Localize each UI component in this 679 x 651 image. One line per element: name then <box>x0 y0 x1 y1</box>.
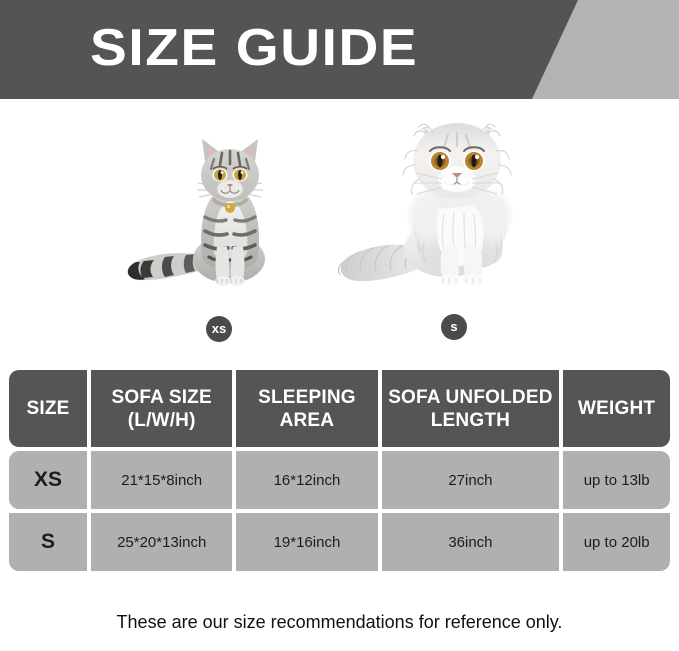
size-table: SIZE SOFA SIZE (L/W/H) SLEEPING AREA SOF… <box>9 370 670 575</box>
white-persian-cat-icon <box>330 99 580 311</box>
cell-sofa-unfolded-length: 36inch <box>382 513 560 571</box>
cell-size: S <box>9 513 87 571</box>
page-title: SIZE GUIDE <box>90 18 418 78</box>
header-label-unfolded-line1: SOFA UNFOLDED <box>388 387 552 408</box>
size-badge-s: s <box>441 314 467 340</box>
cell-sleeping-area: 16*12inch <box>236 451 377 509</box>
header-cell-weight: WEIGHT <box>563 370 670 447</box>
pet-illustrations-area: xs <box>0 99 679 361</box>
header-label-size: SIZE <box>27 397 70 420</box>
cell-sleeping-area: 19*16inch <box>236 513 377 571</box>
table-row: S 25*20*13inch 19*16inch 36inch up to 20… <box>9 513 670 571</box>
silver-tabby-cat-icon <box>110 107 330 312</box>
header-cell-sleeping-area: SLEEPING AREA <box>236 370 377 447</box>
header-cell-sofa-unfolded-length: SOFA UNFOLDED LENGTH <box>382 370 560 447</box>
header-label-sleeping-line2: AREA <box>280 410 335 431</box>
cell-weight: up to 20lb <box>563 513 670 571</box>
pet-figure-s: s <box>330 99 580 311</box>
header-label-sofa-size-line1: SOFA SIZE <box>112 387 212 408</box>
size-badge-xs: xs <box>206 316 232 342</box>
table-header-row: SIZE SOFA SIZE (L/W/H) SLEEPING AREA SOF… <box>9 370 670 447</box>
pet-figure-xs: xs <box>110 107 330 312</box>
table-row: XS 21*15*8inch 16*12inch 27inch up to 13… <box>9 451 670 509</box>
cell-weight: up to 13lb <box>563 451 670 509</box>
footer-note: These are our size recommendations for r… <box>0 612 679 633</box>
cell-sofa-size: 25*20*13inch <box>91 513 232 571</box>
header-cell-size: SIZE <box>9 370 87 447</box>
cell-sofa-size: 21*15*8inch <box>91 451 232 509</box>
header-cell-sofa-size: SOFA SIZE (L/W/H) <box>91 370 232 447</box>
header-label-sleeping-line1: SLEEPING <box>258 387 356 408</box>
size-badge-s-wrapper: s <box>441 314 467 340</box>
cell-size: XS <box>9 451 87 509</box>
size-badge-xs-wrapper: xs <box>206 316 232 342</box>
header-label-sofa-size-line2: (L/W/H) <box>128 410 196 431</box>
header-label-unfolded-line2: LENGTH <box>431 410 510 431</box>
cell-sofa-unfolded-length: 27inch <box>382 451 560 509</box>
header-label-weight: WEIGHT <box>578 397 655 420</box>
header-banner: SIZE GUIDE <box>0 0 679 99</box>
